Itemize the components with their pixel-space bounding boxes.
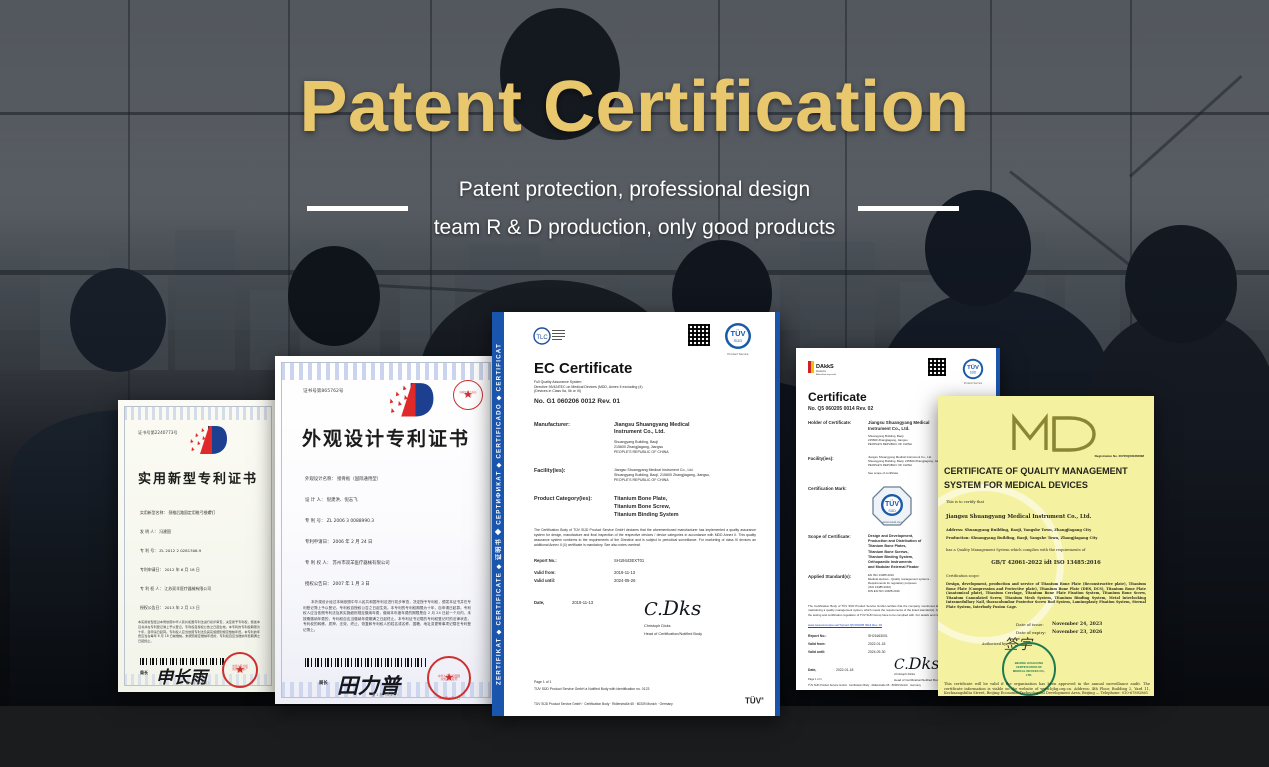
certificate-validity-link[interactable]: www.tuvsud.com/ps-cert?q=cert:Q5 060205 … <box>808 624 882 628</box>
sipo-logo-icon <box>375 380 437 422</box>
compliance-statement: has a Quality Management System which co… <box>946 548 1085 553</box>
certificate-body-text: The Certification Body of TÜV SÜD Produc… <box>534 528 756 548</box>
certificate-field: 专 利 号： ZL 2006 3 0088990.3 <box>305 518 374 524</box>
tuv-sud-badge-icon: TÜV SÜD <box>724 322 752 350</box>
dakks-accreditation-icon: TLC <box>532 326 566 346</box>
barcode <box>305 658 427 667</box>
right-blue-edge <box>775 312 780 716</box>
company-name: Jiangsu Shuangyang Medical Instrument Co… <box>946 514 1091 522</box>
md-logo-icon <box>1004 406 1100 460</box>
notified-body-note: TÜV SÜD Product Service GmbH a Notified … <box>534 687 649 692</box>
certificate-body-text: 本外观设计经过本局依照中华人民共和国专利法进行初步审查，决定授予专利权，颁发本证… <box>303 600 471 633</box>
signer-title: Head of Certification/Notified Body <box>644 632 702 637</box>
certificate-number: No. Q5 060205 0014 Rev. 02 <box>808 406 873 413</box>
certificate-field: 专 利 权 人： 江苏双羊医疗器械有限公司 <box>140 586 211 592</box>
seal-text: 中华人民共和国国家知识产权局 <box>429 667 469 689</box>
certificate-card-design-patent[interactable]: 证书号第865762号 国家知识产权局专利局 外观设计专利证书 外观设计名称： … <box>275 356 497 704</box>
certificate-number: No. G1 060206 0012 Rev. 01 <box>534 398 620 407</box>
dakks-accreditation-icon: DAkkS Deutsche Akkreditierungsstelle <box>808 360 844 378</box>
company-address: TÜV SÜD Product Service GmbH · Certifica… <box>808 684 921 688</box>
tuv-sud-badge-icon: TÜV SÜD <box>962 358 984 380</box>
tuv-wordmark: TÜV® <box>745 696 764 706</box>
certificate-card-ec[interactable]: ZERTIFIKAT ◆ CERTIFICATE ◆ 证明书 ◆ СЕРТИФИ… <box>492 312 780 716</box>
certificate-title: 外观设计专利证书 <box>275 424 497 451</box>
handwritten-signature: C.Dks <box>894 654 939 673</box>
subtitle-line: (Devices in Class IIa, IIb or III) <box>534 389 734 394</box>
certificate-title: 实用新型专利证书 <box>118 468 278 487</box>
certificate-body-text: 本实用新型经过本局依照中华人民共和国专利法进行初步审查，决定授予专利权，颁发本证… <box>138 620 260 644</box>
field-value-facility: Jiangsu Shuangyang Medical Instrument Co… <box>614 468 710 483</box>
certificate-field: 设 计 人： 倪建洪、倪志飞 <box>305 497 358 503</box>
signature-label: 局长 <box>319 680 328 686</box>
certificate-footnote: This certificate will be valid if the or… <box>944 682 1150 696</box>
company-address-2: Production: Shuangyang Building, Baoji, … <box>946 536 1097 541</box>
page-title: Patent Certification <box>0 66 1269 148</box>
certificate-field: 外观设计名称： 接骨板（国际通用型） <box>305 476 381 482</box>
svg-text:SÜD: SÜD <box>888 509 896 513</box>
certificate-card-md-quality[interactable]: Registration No. 00725Q00036R0M CERTIFIC… <box>938 396 1154 696</box>
field-value-facility: Jiangsu Shuangyang Medical Instrument Co… <box>868 456 945 476</box>
certificate-field: 授权公告日： 2013 年 2 月 13 日 <box>140 605 200 611</box>
certificate-field: 发 明 人： 冯建国 <box>140 529 171 535</box>
report-no-value: SH21663001 <box>868 634 888 639</box>
tuv-certification-mark-icon: TÜV SÜD www.tuvsud.com <box>872 486 912 528</box>
certificate-field: 实用新型名称： 颈椎后路固定用椎弓根螺钉 <box>140 510 215 516</box>
field-label-manufacturer: Manufacturer: <box>534 422 570 429</box>
field-label-applied-standards: Applied Standard(s): <box>808 574 851 580</box>
registration-seal: 国家知识产权局专利局 <box>453 380 483 410</box>
certificate-field: 专利申请日： 2012 年 6 月 18 日 <box>140 567 200 573</box>
valid-until-value: 2024-09-30 <box>868 650 885 655</box>
svg-text:TLC: TLC <box>536 335 548 341</box>
standard-reference: GB/T 42061-2022 idt ISO 13485:2016 <box>946 560 1146 568</box>
field-label-product-category: Product Category(ies): <box>534 496 592 503</box>
certificate-field: 专利申请日： 2006 年 2 月 24 日 <box>305 539 372 545</box>
signature-label: 局长 <box>140 670 148 676</box>
field-label-scope: Scope of Certificate: <box>808 534 851 540</box>
certificate-field: 专 利 权 人： 苏州市双羊医疗器械有限公司 <box>305 560 390 566</box>
valid-until-label: Valid until: <box>808 650 825 655</box>
field-value-applied-standards: EN ISO 13485:2016 Medical devices - Qual… <box>868 574 931 594</box>
report-no-label: Report No.: <box>808 634 826 639</box>
svg-text:www.tuvsud.com: www.tuvsud.com <box>882 520 901 524</box>
svg-text:TÜV: TÜV <box>885 499 899 508</box>
seal-text: 中华人民共和国国家知识产权局 <box>224 659 256 682</box>
field-value-holder-address: Shuangyang Building, Baoji 215600 Zhangj… <box>868 435 912 447</box>
valid-until-value: 2024-05-26 <box>614 578 635 584</box>
product-service-label: Product Service <box>718 352 758 356</box>
company-address-1: Address: Shuangyang Building, Baoji, Yan… <box>946 528 1091 533</box>
registration-number: Registration No. 00725Q00036R0M <box>1095 454 1144 458</box>
valid-from-value: 2022-01-18 <box>868 642 885 647</box>
certificate-field: 专 利 号： ZL 2012 2 0281306.9 <box>140 548 201 554</box>
valid-from-value: 2019-11-13 <box>614 570 635 576</box>
certificate-footer: 第 1 页（共 1 页） <box>118 681 278 685</box>
certificate-title-line-1: CERTIFICATE OF QUALITY MANAGEMENT <box>944 466 1128 476</box>
field-label-facility: Facility(ies): <box>534 468 565 475</box>
svg-text:Akkreditierungsstelle: Akkreditierungsstelle <box>816 373 837 376</box>
field-value-scope: Design and Development, Production and D… <box>868 534 921 570</box>
page-number: Page 1 of 1 <box>808 678 822 682</box>
certificate-title-line-2: SYSTEM FOR MEDICAL DEVICES <box>944 480 1088 490</box>
field-value-manufacturer: Jiangsu Shuangyang Medical Instrument Co… <box>614 422 690 437</box>
valid-until-label: Valid until: <box>534 578 555 584</box>
date-value: 2019-11-13 <box>572 600 593 606</box>
field-label-certification-mark: Certification Mark: <box>808 486 847 492</box>
hero-subtitle-line-1: Patent protection, professional design <box>0 178 1269 202</box>
page-number: Page 1 of 1 <box>534 680 551 685</box>
hero-subtitle-line-2: team R & D production, only good product… <box>0 216 1269 240</box>
qr-code <box>688 324 710 346</box>
certificate-card-utility-model[interactable]: 证书号第2240773号 实用新型专利证书 实用新型名称： 颈椎后路固定用椎弓根… <box>118 400 278 692</box>
certificate-number: 证书号第865762号 <box>303 388 344 394</box>
report-no-value: SH19443EXT01 <box>614 558 644 564</box>
sipo-logo-icon <box>178 424 230 458</box>
date-label: Date, <box>534 600 544 606</box>
scope-label: Certification scope: <box>946 574 980 579</box>
scope-text: Design, development, production and serv… <box>946 582 1146 610</box>
svg-text:Deutsche: Deutsche <box>816 370 827 373</box>
certificate-field: 授权公告日： 2007 年 1 月 3 日 <box>305 581 370 587</box>
date-value: 2022-01-18 <box>836 668 853 673</box>
signer-title: Head of Certification/Notified Body <box>894 678 940 682</box>
date-label: Date, <box>808 668 816 673</box>
side-band-text: ZERTIFIKAT ◆ CERTIFICATE ◆ 证明书 ◆ СЕРТИФИ… <box>494 343 503 685</box>
report-no-label: Report No.: <box>534 558 557 564</box>
issue-date-value: November 24, 2023 <box>1052 622 1102 629</box>
company-address: TÜV SÜD Product Service GmbH · Certifica… <box>534 702 673 706</box>
svg-text:TÜV: TÜV <box>731 329 746 338</box>
certificate-number: 证书号第2240773号 <box>138 430 178 436</box>
certificate-title: Certificate <box>808 390 867 404</box>
svg-text:SÜD: SÜD <box>734 338 743 343</box>
certificate-footer: 第 1 页（共 1 页） <box>275 692 497 697</box>
field-label-holder: Holder of Certificate: <box>808 420 851 426</box>
page-root: Patent Certification Patent protection, … <box>0 0 1269 767</box>
handwritten-signature: C.Dks <box>644 596 701 620</box>
field-value-manufacturer-address: Shuangyang Building, Baoji 215600 Zhangj… <box>614 440 669 455</box>
certificate-title: EC Certificate <box>534 360 632 377</box>
field-value-holder: Jiangsu Shuangyang Medical Instrument Co… <box>868 420 929 432</box>
certificate-subtitle: Full Quality Assurance System Directive … <box>534 380 734 394</box>
decorative-rule-right <box>858 206 959 211</box>
issue-date-label: Date of issue: <box>1016 622 1044 628</box>
expiry-date-value: November 23, 2026 <box>1052 630 1102 637</box>
field-label-facility: Facility(ies): <box>808 456 834 462</box>
valid-from-label: Valid from: <box>808 642 826 647</box>
multilingual-side-band: ZERTIFIKAT ◆ CERTIFICATE ◆ 证明书 ◆ СЕРТИФИ… <box>492 312 504 716</box>
decorative-rule-left <box>307 206 408 211</box>
signer-name: Christoph Dicks <box>894 672 915 676</box>
product-service-label: Product Service <box>954 382 992 385</box>
tuv-mark-text: TÜV <box>745 697 761 706</box>
valid-from-label: Valid from: <box>534 570 556 576</box>
signer-name: Christoph Dicks <box>644 624 671 629</box>
field-value-product-category: Titanium Bone Plate, Titanium Bone Screw… <box>614 496 679 519</box>
seal-text: BEIJING HUAGUANG CERTIFICATION OF MEDICA… <box>1004 654 1054 684</box>
qr-code <box>928 358 946 376</box>
svg-text:SÜD: SÜD <box>970 371 977 375</box>
certify-intro: This is to certify that <box>946 500 984 505</box>
